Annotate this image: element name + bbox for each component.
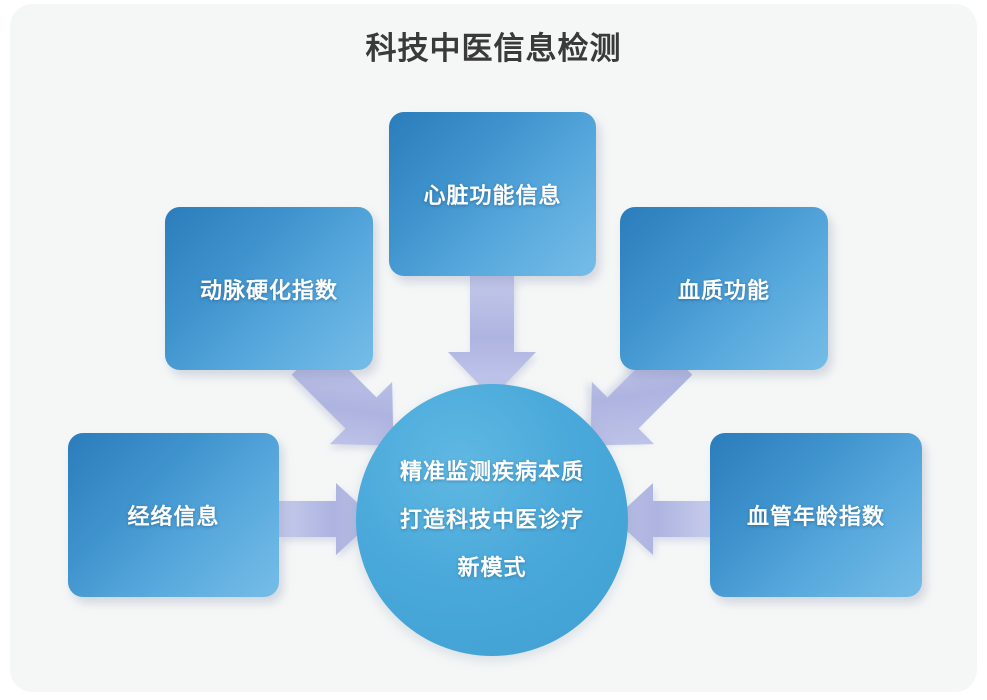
node-arteriosclerosis-index[interactable]: 动脉硬化指数 [165,207,373,370]
hub-line-1: 精准监测疾病本质 [400,448,584,496]
node-label: 心脏功能信息 [423,178,561,210]
hub-line-2: 打造科技中医诊疗 [400,496,584,544]
diagram-canvas: 科技中医信息检测 [0,0,987,700]
node-meridian-info[interactable]: 经络信息 [68,433,279,597]
hub-line-3: 新模式 [457,544,526,592]
node-blood-quality-function[interactable]: 血质功能 [620,207,828,370]
arrow-vascular-age-to-hub [614,483,710,555]
arrow-heart-to-hub [448,276,536,398]
node-vascular-age-index[interactable]: 血管年龄指数 [710,433,922,597]
node-heart-function-info[interactable]: 心脏功能信息 [389,112,596,276]
node-label: 动脉硬化指数 [200,273,338,305]
center-hub[interactable]: 精准监测疾病本质 打造科技中医诊疗 新模式 [356,384,628,656]
node-label: 经络信息 [127,499,219,531]
node-label: 血质功能 [678,273,770,305]
node-label: 血管年龄指数 [747,499,885,531]
